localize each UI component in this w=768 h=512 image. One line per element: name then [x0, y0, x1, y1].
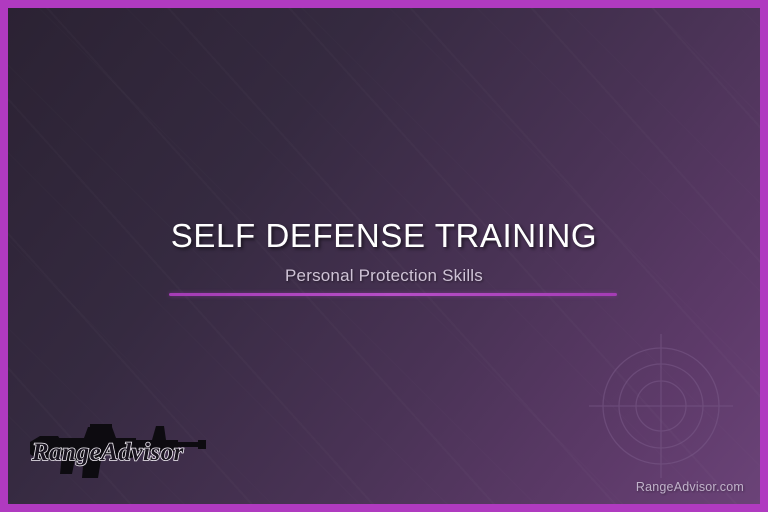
crosshair-target-icon — [581, 326, 741, 486]
presentation-slide: SELF DEFENSE TRAINING Personal Protectio… — [0, 0, 768, 512]
logo-wordmark: RangeAdvisor — [31, 439, 184, 466]
page-subtitle: Personal Protection Skills — [8, 265, 760, 287]
brand-logo: RangeAdvisor — [28, 420, 208, 482]
title-divider — [169, 293, 617, 296]
title-block: SELF DEFENSE TRAINING Personal Protectio… — [8, 216, 760, 287]
page-title: SELF DEFENSE TRAINING — [8, 216, 760, 256]
watermark-text: RangeAdvisor.com — [636, 480, 744, 494]
